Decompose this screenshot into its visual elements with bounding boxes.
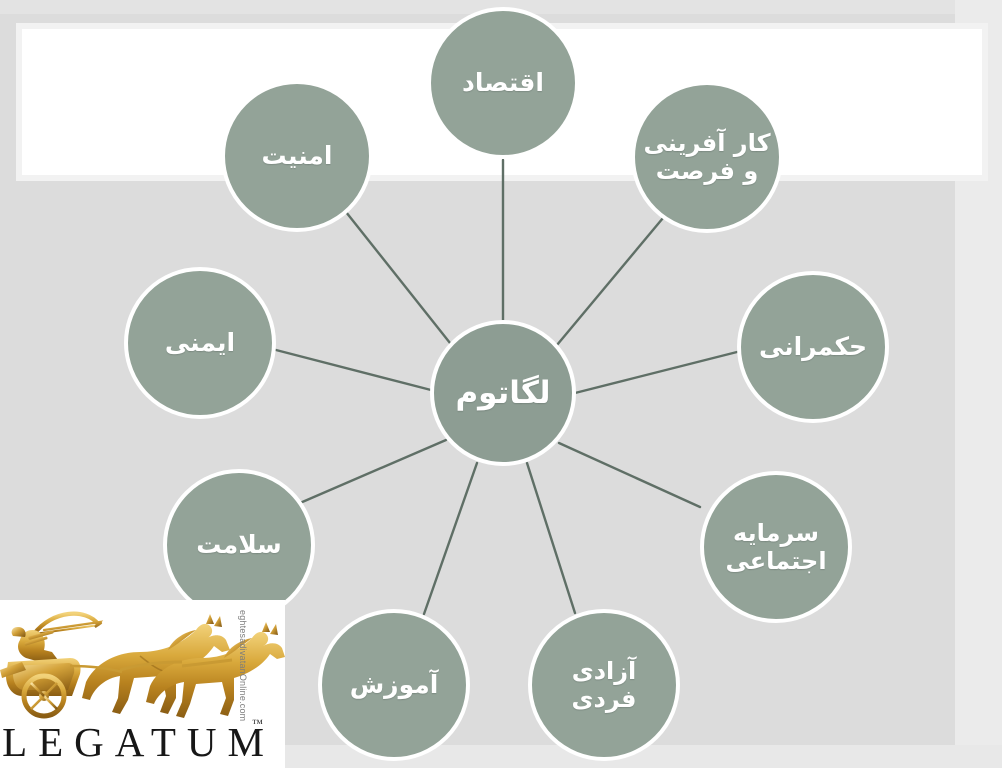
- node-personal-freedom-label: آزادیفردی: [566, 657, 643, 714]
- spoke-health: [300, 440, 446, 503]
- node-social-capital[interactable]: سرمایهاجتماعی: [700, 471, 852, 623]
- diagram-canvas: لگاتوم اقتصاد کار آفرینیو فرصت حکمرانی س…: [0, 0, 1002, 768]
- node-governance[interactable]: حکمرانی: [737, 271, 889, 423]
- spoke-education: [424, 463, 477, 614]
- legatum-trademark-icon: ™: [252, 718, 263, 730]
- spoke-security: [346, 212, 450, 343]
- node-education-label: آموزش: [344, 670, 445, 700]
- node-security-label: امنیت: [256, 141, 339, 171]
- node-security[interactable]: امنیت: [221, 80, 373, 232]
- node-entrepreneurship-label: کار آفرینیو فرصت: [637, 129, 776, 186]
- watermark-text: eghtesadivatanOnline.com: [234, 610, 248, 710]
- legatum-wordmark: LEGATUM: [0, 718, 268, 766]
- spoke-governance: [575, 352, 737, 393]
- hub-node-legatum[interactable]: لگاتوم: [430, 320, 576, 466]
- spoke-safety: [276, 350, 431, 390]
- node-health-label: سلامت: [190, 530, 288, 560]
- spoke-personal-freedom: [527, 463, 575, 613]
- node-governance-label: حکمرانی: [753, 332, 873, 362]
- node-economy-label: اقتصاد: [456, 68, 550, 98]
- hub-node-label: لگاتوم: [449, 375, 556, 412]
- node-safety[interactable]: ایمنی: [124, 267, 276, 419]
- node-health[interactable]: سلامت: [163, 469, 315, 621]
- node-economy[interactable]: اقتصاد: [427, 7, 579, 159]
- node-safety-label: ایمنی: [159, 328, 241, 358]
- node-education[interactable]: آموزش: [318, 609, 470, 761]
- node-social-capital-label: سرمایهاجتماعی: [719, 519, 832, 576]
- node-personal-freedom[interactable]: آزادیفردی: [528, 609, 680, 761]
- spoke-entrepreneurship: [557, 212, 668, 345]
- node-entrepreneurship[interactable]: کار آفرینیو فرصت: [631, 81, 783, 233]
- spoke-social-capital: [559, 443, 700, 507]
